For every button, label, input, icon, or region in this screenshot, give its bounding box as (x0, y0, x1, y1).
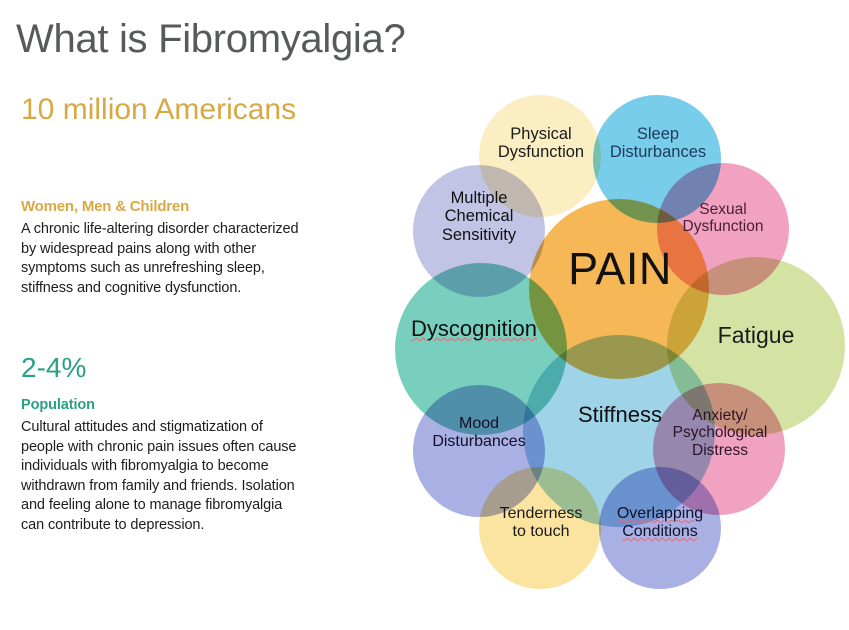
stat-primary-value: 10 million Americans (21, 92, 351, 128)
subhead-population: Population (21, 397, 95, 413)
venn-circle-chemical-sensitivity (413, 165, 545, 297)
left-text-column: What is Fibromyalgia? 10 million America… (0, 0, 400, 630)
venn-diagram: Physical Dysfunction Sleep Disturbances … (395, 85, 849, 600)
stat-secondary-value: 2-4% (21, 352, 86, 384)
body-paragraph-secondary: Cultural attitudes and stigmatization of… (21, 418, 306, 535)
body-paragraph-primary: A chronic life-altering disorder charact… (21, 220, 311, 298)
subhead-women-men-children: Women, Men & Children (21, 198, 189, 215)
venn-circle-pain (529, 199, 709, 379)
page-title: What is Fibromyalgia? (16, 17, 405, 61)
